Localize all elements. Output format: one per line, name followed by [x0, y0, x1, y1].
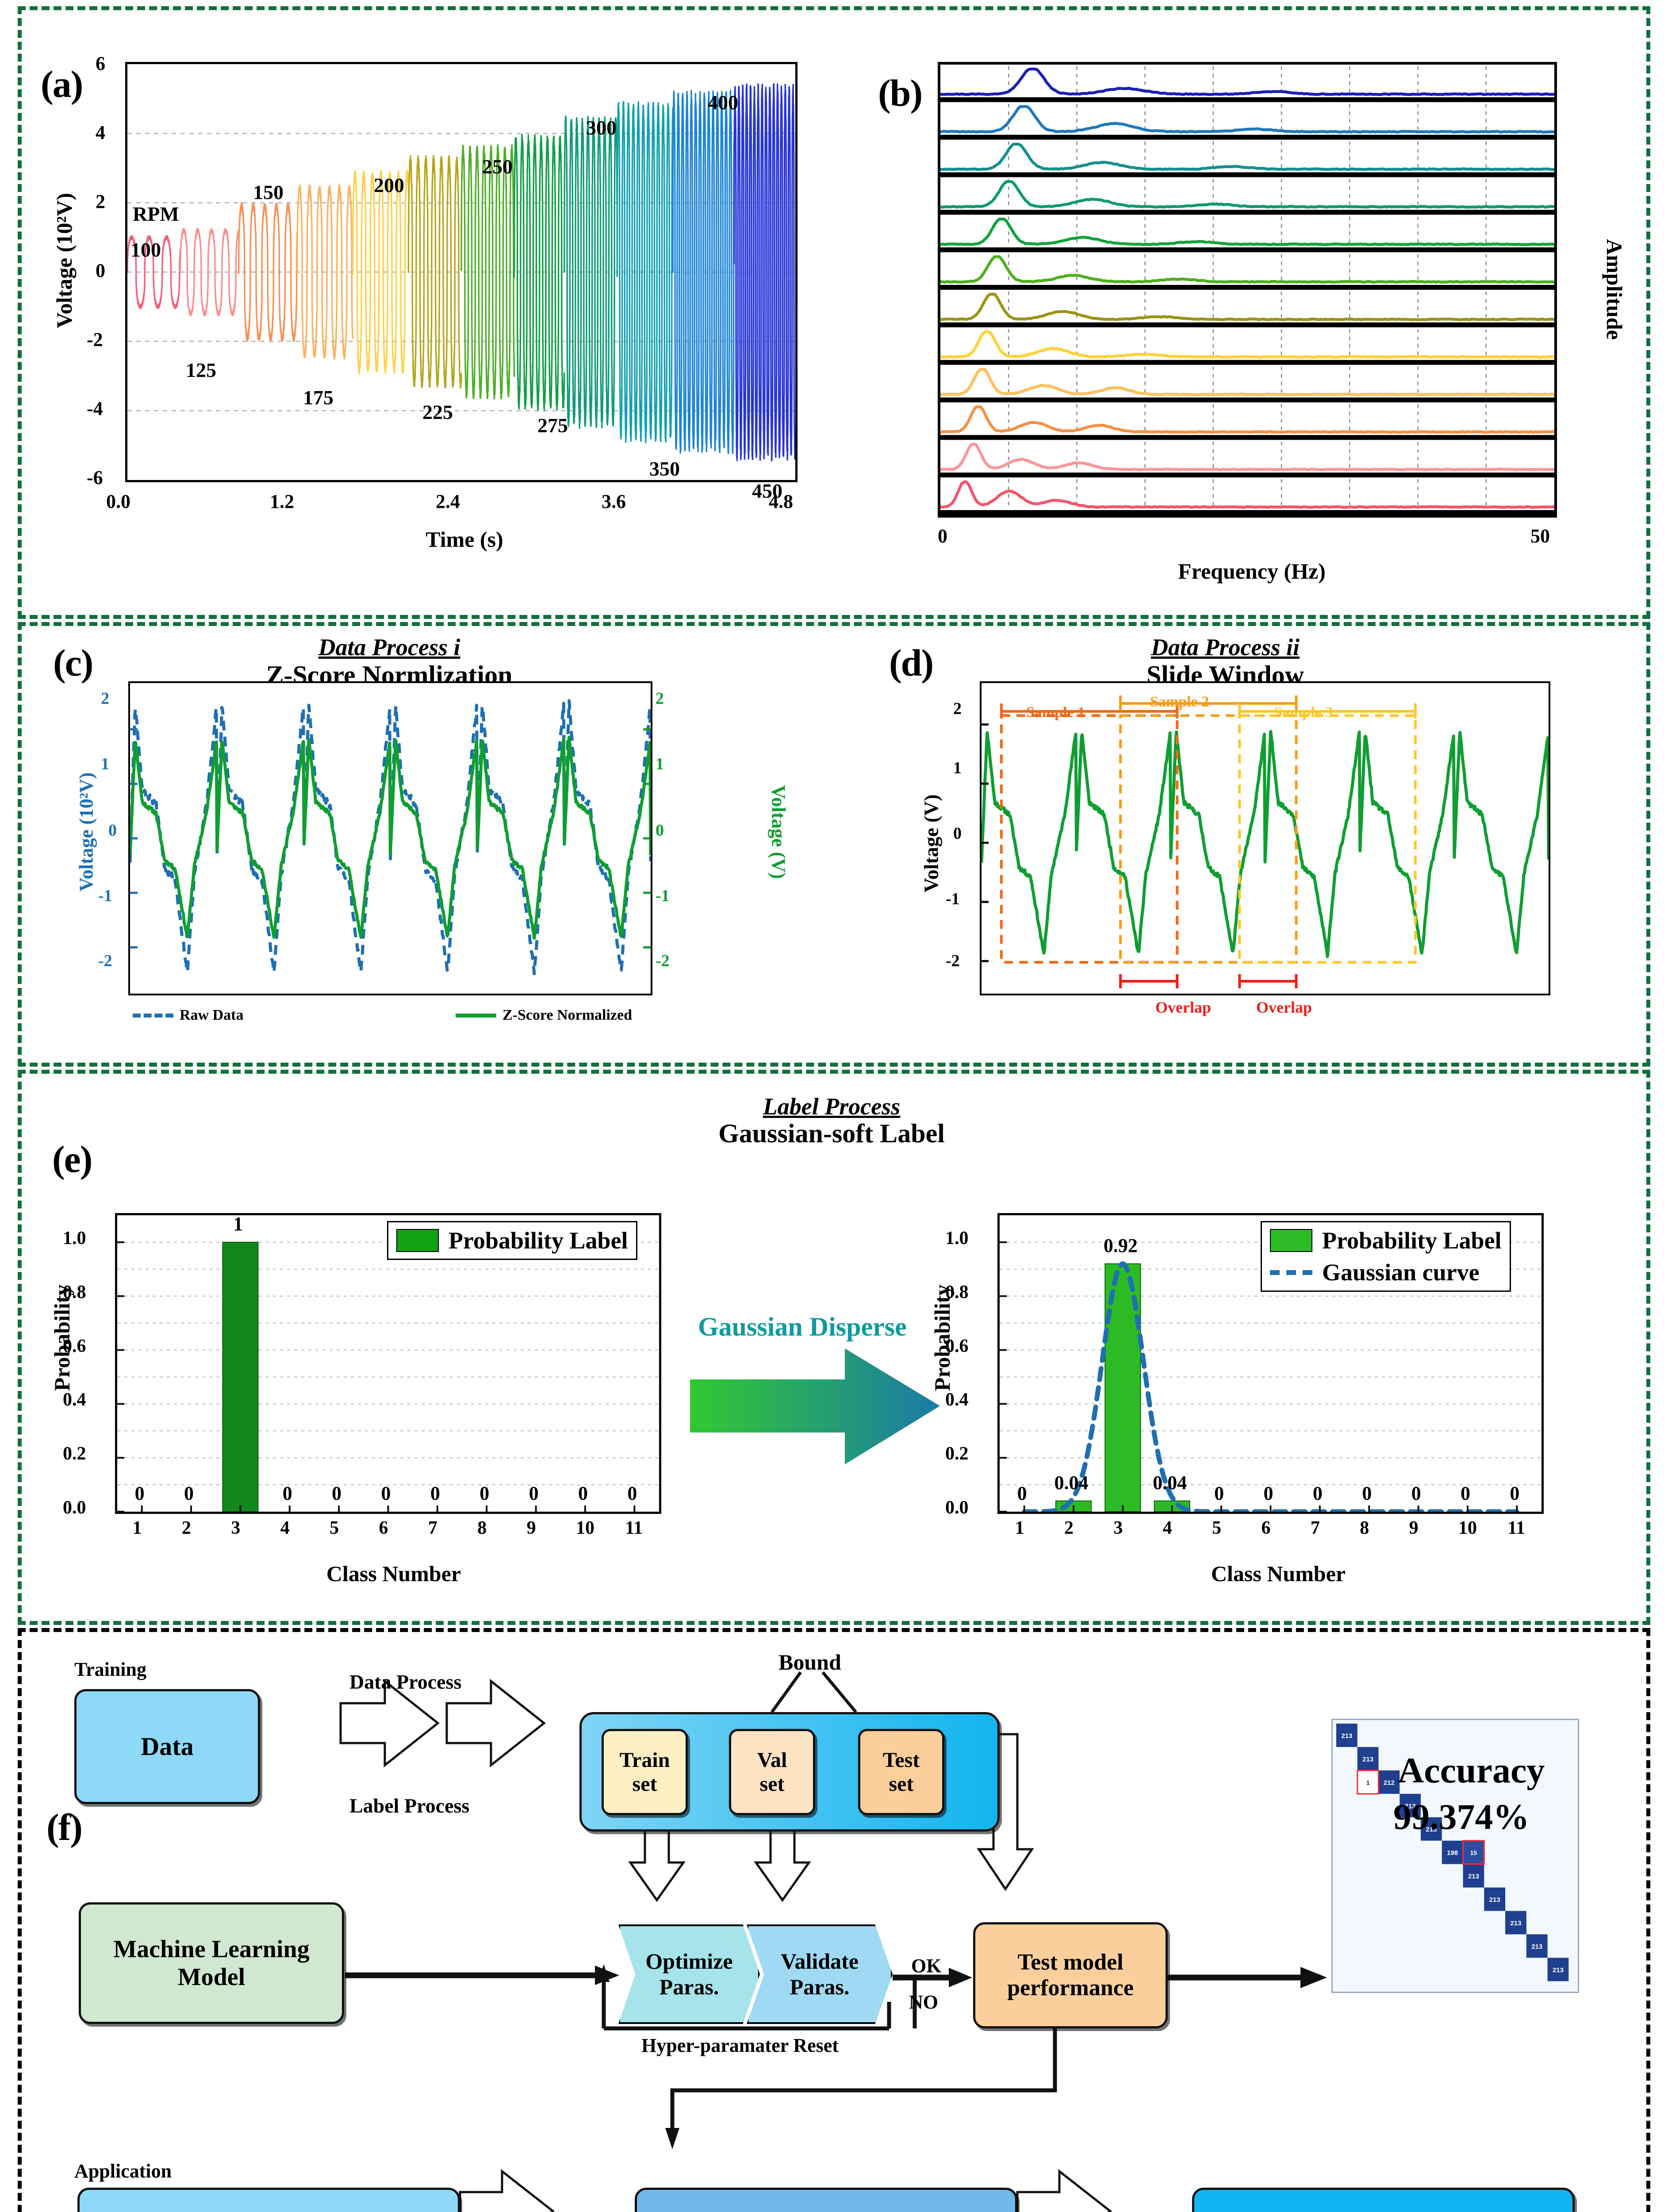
panel-b-xlabel: Frequency (Hz): [1097, 558, 1407, 584]
bar-xtick: 8: [1360, 1517, 1369, 1539]
panel-c-ltick-1: 1: [101, 754, 109, 774]
bar-value-label: 0: [1017, 1482, 1028, 1505]
flow-box-detection-results[interactable]: Detection results: [1192, 2188, 1575, 2212]
bar-ytick: 0.4: [945, 1389, 969, 1410]
bar-xtick: 9: [527, 1517, 536, 1539]
panel-c-legend-norm-label: Z-Score Normalized: [502, 1007, 632, 1024]
gaussian-disperse-text: Gaussian Disperse: [698, 1312, 907, 1342]
panel-label-a: (a): [41, 62, 82, 106]
svg-text:213: 213: [1341, 1732, 1352, 1740]
bar-value-label: 0.92: [1099, 1234, 1142, 1257]
panel-c-legend-raw-label: Raw Data: [180, 1007, 243, 1024]
panel-b-ylabel: Amplitude: [1602, 196, 1627, 382]
panel-f-label-process-label: Label Process: [349, 1794, 469, 1817]
panel-b-plot: [938, 62, 1557, 518]
panel-e-left-legend: Probability Label: [387, 1221, 637, 1260]
probability-label-swatch-2: [1270, 1229, 1312, 1252]
panel-c-curves: [130, 683, 651, 994]
bar-value-label: 0: [1509, 1482, 1520, 1505]
panel-a-rpm-275: 275: [537, 414, 568, 437]
panel-d-overlap-1-label: Overlap: [1155, 998, 1211, 1017]
flow-box-test-model-performance[interactable]: Test model performance: [973, 1922, 1168, 2028]
bar-value-label: 0: [1361, 1482, 1372, 1505]
panel-a-waveforms: [127, 64, 795, 480]
bar-value-label: 0.04: [1050, 1471, 1093, 1494]
svg-text:212: 212: [1384, 1779, 1395, 1786]
bar-xtick: 7: [428, 1517, 437, 1539]
panel-e-right-legend-label-1: Probability Label: [1322, 1227, 1502, 1254]
svg-text:213: 213: [1362, 1755, 1373, 1763]
flow-box-val-set[interactable]: Val set: [729, 1729, 815, 1815]
panel-a-xtick-0: 0.0: [106, 490, 130, 513]
svg-text:1: 1: [1366, 1779, 1370, 1786]
bar-ytick: 0.4: [63, 1389, 86, 1410]
panel-b-spectra: [940, 65, 1554, 515]
flow-box-realtime-data[interactable]: Real-time Data: [77, 2188, 460, 2212]
panel-d-sample-1-label: Sample 1: [1026, 704, 1085, 721]
flow-box-validate-paras[interactable]: Validate Paras.: [747, 1924, 893, 2024]
panel-a-rpm-300: 300: [586, 116, 617, 139]
panel-a-ytick-5: 4: [96, 121, 105, 144]
panel-a-rpm-150: 150: [253, 180, 284, 204]
bar-xtick: 9: [1409, 1517, 1419, 1539]
panel-c-ltick-3: -1: [98, 886, 112, 906]
panel-a-plot: [125, 62, 798, 482]
flow-box-ml-model[interactable]: Machine Learning Model: [79, 1902, 344, 2024]
bar-value-label: 0: [1312, 1482, 1323, 1505]
svg-text:213: 213: [1468, 1873, 1479, 1880]
panel-d-ylabel: Voltage (V): [920, 760, 943, 928]
panel-a-ytick-1: -4: [87, 397, 103, 420]
panel-c-rtick-3: -1: [656, 886, 670, 906]
panel-f-bound-caption: Bound: [778, 1649, 841, 1675]
bar-xtick: 6: [379, 1517, 388, 1539]
panel-a-xtick-1: 1.2: [270, 490, 294, 513]
panel-c-ylabel-right: Voltage (V): [767, 735, 790, 929]
bar-xtick: 4: [1163, 1517, 1172, 1539]
panel-e-right-legend-row-2: Gaussian curve: [1270, 1259, 1502, 1286]
bar-value-label: 0: [381, 1482, 391, 1505]
bar-xtick: 3: [1113, 1517, 1123, 1539]
bar-ytick: 0.2: [945, 1443, 969, 1464]
bar-xtick: 2: [182, 1517, 191, 1539]
panel-a-xtick-3: 3.6: [602, 490, 626, 513]
panel-a-ytick-0: -6: [87, 466, 103, 489]
panel-c-legend-raw: Raw Data: [133, 1007, 243, 1024]
panel-d-sample-3-label: Sample 3: [1274, 704, 1333, 721]
panel-e-subtitle: Gaussian-soft Label: [619, 1118, 1044, 1149]
bar-value-label: 0: [1214, 1482, 1224, 1505]
panel-d-ytick-4: -2: [946, 951, 960, 971]
panel-c-rtick-1: 1: [656, 754, 664, 774]
bar-value-label: 0: [134, 1482, 145, 1505]
bar-ytick: 0.2: [63, 1443, 86, 1464]
panel-c-legend-norm: Z-Score Normalized: [456, 1007, 632, 1024]
panel-e-left-legend-label: Probability Label: [449, 1227, 628, 1254]
bar-value-label: 0: [627, 1482, 637, 1505]
panel-e-right-legend-row-1: Probability Label: [1270, 1227, 1502, 1254]
zscore-swatch: [456, 1014, 496, 1018]
flow-box-data[interactable]: Data: [74, 1689, 260, 1804]
flow-box-train-set[interactable]: Train set: [602, 1729, 688, 1815]
svg-text:213: 213: [1531, 1943, 1542, 1951]
panel-a-ytick-6: 6: [96, 52, 105, 75]
bar-xtick: 1: [133, 1517, 142, 1539]
panel-d-ytick-1: 1: [953, 758, 962, 778]
bar-xtick: 5: [330, 1517, 339, 1539]
bar-xtick: 6: [1262, 1517, 1271, 1539]
panel-a-rpm-225: 225: [422, 400, 453, 424]
svg-text:15: 15: [1470, 1849, 1477, 1856]
bar-xtick: 2: [1064, 1517, 1074, 1539]
svg-text:213: 213: [1510, 1920, 1521, 1927]
panel-d-overlap-2-label: Overlap: [1256, 998, 1312, 1017]
panel-c-ltick-2: 2: [101, 689, 109, 708]
panel-a-rpm-175: 175: [303, 386, 334, 409]
bar-value-label: 0: [282, 1482, 293, 1505]
panel-a-xlabel: Time (s): [310, 526, 619, 552]
panel-a-ytick-2: -2: [87, 328, 103, 351]
bar-xtick: 3: [231, 1517, 240, 1539]
svg-text:213: 213: [1489, 1896, 1500, 1904]
panel-a-rpm-200: 200: [374, 173, 404, 197]
bar-ytick: 1.0: [63, 1228, 86, 1249]
panel-a-ytick-4: 2: [96, 190, 105, 213]
bar-value-label: 0: [1460, 1482, 1471, 1505]
panel-a-rpm-125: 125: [186, 358, 216, 382]
accuracy-label: Accuracy: [1398, 1750, 1545, 1791]
panel-a-ylabel: Voltage (10²V): [51, 154, 77, 367]
panel-e-process-title: Label Process: [690, 1093, 973, 1120]
bar-value-label: 0: [1263, 1482, 1274, 1505]
bar-xtick: 7: [1311, 1517, 1320, 1539]
bar-value-label: 0: [1411, 1482, 1422, 1505]
panel-c-plot: [128, 681, 652, 995]
bar-value-label: 0.04: [1149, 1471, 1191, 1494]
panel-b-xtick-50: 50: [1530, 525, 1550, 547]
panel-e-right-legend-label-2: Gaussian curve: [1322, 1259, 1480, 1286]
panel-a-ytick-3: 0: [96, 259, 105, 282]
bar-value-label: 0: [430, 1482, 441, 1505]
bar-value-label: 0: [331, 1482, 342, 1505]
panel-d-window-diagram: [982, 683, 1549, 994]
panel-label-e: (e): [52, 1137, 92, 1181]
panel-f-ok-label: OK: [911, 1955, 941, 1977]
panel-d-ytick-2: 2: [953, 699, 962, 718]
panel-c-rtick-4: -2: [656, 951, 670, 971]
panel-d-ytick-0: 0: [953, 824, 962, 843]
gaussian-disperse-arrow-icon: [690, 1348, 942, 1468]
bar-xtick: 4: [280, 1517, 290, 1539]
panel-c-rtick-0: 0: [656, 821, 664, 840]
bar-value-label: 1: [233, 1213, 243, 1235]
svg-text:198: 198: [1447, 1849, 1458, 1857]
bar-value-label: 0: [578, 1482, 588, 1505]
bar-xtick: 11: [625, 1517, 643, 1539]
panel-d-process-title: Data Process ii: [1084, 634, 1367, 661]
bar-xtick: 1: [1015, 1517, 1024, 1539]
gaussian-curve-swatch: [1270, 1270, 1312, 1275]
bar-xtick: 8: [477, 1517, 487, 1539]
panel-e-right-legend: Probability Label Gaussian curve: [1261, 1221, 1511, 1292]
panel-label-d: (d): [889, 641, 933, 685]
panel-a-rpm-250: 250: [482, 155, 513, 178]
bar-value-label: 0: [529, 1482, 539, 1505]
panel-c-ylabel-left: Voltage (10²V): [75, 735, 98, 929]
svg-text:213: 213: [1553, 1966, 1564, 1974]
bar-value-label: 0: [479, 1482, 490, 1505]
panel-d-ytick-3: -1: [946, 889, 960, 909]
panel-a-rpm-350: 350: [649, 457, 680, 480]
bar-ytick: 1.0: [945, 1228, 969, 1249]
raw-data-swatch: [133, 1014, 173, 1018]
bar-ytick: 0.0: [945, 1497, 969, 1518]
panel-f-data-process-label: Data Process: [349, 1670, 461, 1694]
bar-value-label: 0: [184, 1482, 194, 1505]
panel-b-xtick-0: 0: [938, 525, 947, 547]
flow-box-test-set[interactable]: Test set: [858, 1729, 944, 1815]
panel-f-reset-label: Hyper-paramater Reset: [641, 2034, 839, 2057]
probability-label-swatch: [396, 1229, 439, 1252]
panel-d-sample-2-label: Sample 2: [1150, 694, 1209, 710]
panel-c-rtick-2: 2: [656, 689, 664, 708]
panel-a-xtick-4: 4.8: [769, 490, 793, 513]
bar-xtick: 11: [1507, 1517, 1525, 1539]
panel-f-application-caption: Application: [74, 2160, 172, 2182]
panel-a-rpm-400: 400: [708, 91, 738, 114]
panel-c-process-title: Data Process i: [248, 634, 531, 661]
flow-box-optimize-paras[interactable]: Optimize Paras.: [618, 1924, 760, 2024]
panel-f-training-caption: Training: [74, 1658, 146, 1681]
flow-box-well-trained-model[interactable]: Well-trained model: [635, 2188, 1017, 2212]
accuracy-value: 99.374%: [1393, 1796, 1530, 1838]
bar-xtick: 10: [1458, 1517, 1477, 1539]
bar-ytick: 0.8: [945, 1282, 969, 1303]
panel-e-left-xlabel: Class Number: [261, 1561, 526, 1586]
panel-f-no-label: NO: [909, 1991, 938, 2013]
figure-root: (a) Voltage (10²V) 6 4 2 0 -2 -4 -6 RPM …: [0, 0, 1668, 2212]
panel-a-xtick-2: 2.4: [436, 490, 460, 513]
bar-ytick: 0.0: [63, 1497, 86, 1518]
bar-xtick: 10: [576, 1517, 594, 1539]
bar-ytick: 0.8: [63, 1282, 86, 1303]
panel-d-plot: [980, 681, 1550, 995]
bar-ytick: 0.6: [945, 1336, 969, 1357]
panel-c-ltick-4: -2: [98, 951, 112, 971]
panel-label-b: (b): [878, 71, 922, 115]
panel-a-rpm-100: 100: [130, 238, 161, 261]
panel-e-left-legend-row-1: Probability Label: [396, 1227, 628, 1254]
bar-xtick: 5: [1212, 1517, 1221, 1539]
panel-label-c: (c): [53, 641, 92, 685]
panel-e-right-xlabel: Class Number: [1146, 1561, 1411, 1586]
panel-c-ltick-0: 0: [108, 821, 117, 840]
bar-ytick: 0.6: [63, 1336, 86, 1357]
panel-a-rpm-caption: RPM: [133, 202, 179, 226]
